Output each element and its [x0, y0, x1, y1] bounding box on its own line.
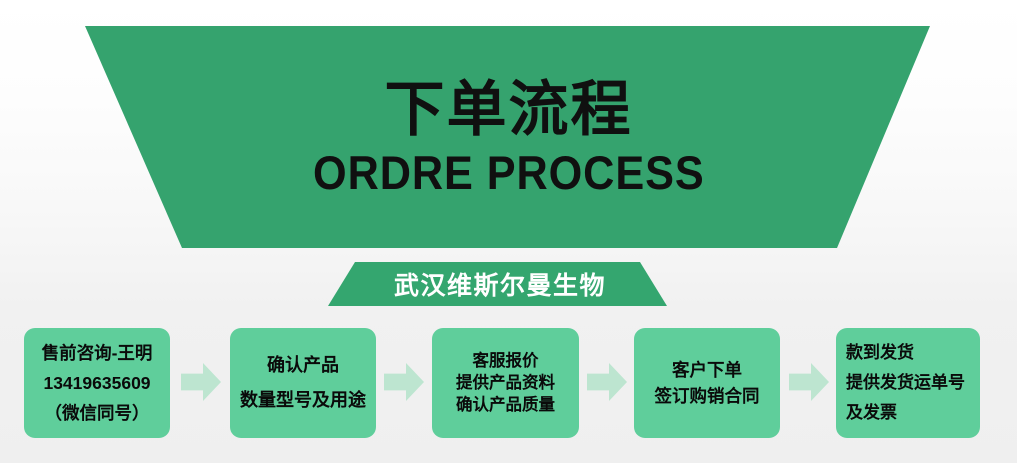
- step-text-line: 13419635609: [43, 368, 150, 398]
- step-text-line: 及发票: [846, 398, 897, 428]
- arrow-right-icon: [587, 363, 627, 401]
- process-step-pre-sales-consult[interactable]: 售前咨询-王明 13419635609 （微信同号）: [24, 328, 170, 438]
- page-title-english: ORDRE PROCESS: [313, 147, 705, 199]
- step-text-line: 确认产品: [267, 348, 339, 383]
- step-text-line: （微信同号）: [45, 398, 150, 428]
- arrow-right-icon: [789, 363, 829, 401]
- order-process-infographic: 下单流程 ORDRE PROCESS 武汉维斯尔曼生物 售前咨询-王明 1341…: [0, 0, 1017, 463]
- arrow-right-icon: [384, 363, 424, 401]
- step-text-line: 客户下单: [672, 357, 742, 383]
- hero-text-group: 下单流程 ORDRE PROCESS: [0, 26, 1017, 248]
- step-text-line: 款到发货: [846, 338, 914, 368]
- step-text-line: 客服报价: [473, 350, 539, 372]
- process-step-payment-shipping[interactable]: 款到发货 提供发货运单号 及发票: [836, 328, 980, 438]
- process-step-confirm-product[interactable]: 确认产品 数量型号及用途: [230, 328, 376, 438]
- step-text-line: 数量型号及用途: [240, 383, 366, 418]
- process-step-customer-order[interactable]: 客户下单 签订购销合同: [634, 328, 780, 438]
- step-text-line: 售前咨询-王明: [42, 338, 153, 368]
- page-title-chinese: 下单流程: [385, 76, 633, 143]
- company-name-label: 武汉维斯尔曼生物: [300, 262, 700, 306]
- step-text-line: 提供产品资料: [456, 372, 555, 394]
- step-text-line: 确认产品质量: [456, 394, 555, 416]
- step-text-line: 签订购销合同: [655, 383, 760, 409]
- arrow-right-icon: [181, 363, 221, 401]
- process-step-service-quote[interactable]: 客服报价 提供产品资料 确认产品质量: [432, 328, 579, 438]
- step-text-line: 提供发货运单号: [846, 368, 965, 398]
